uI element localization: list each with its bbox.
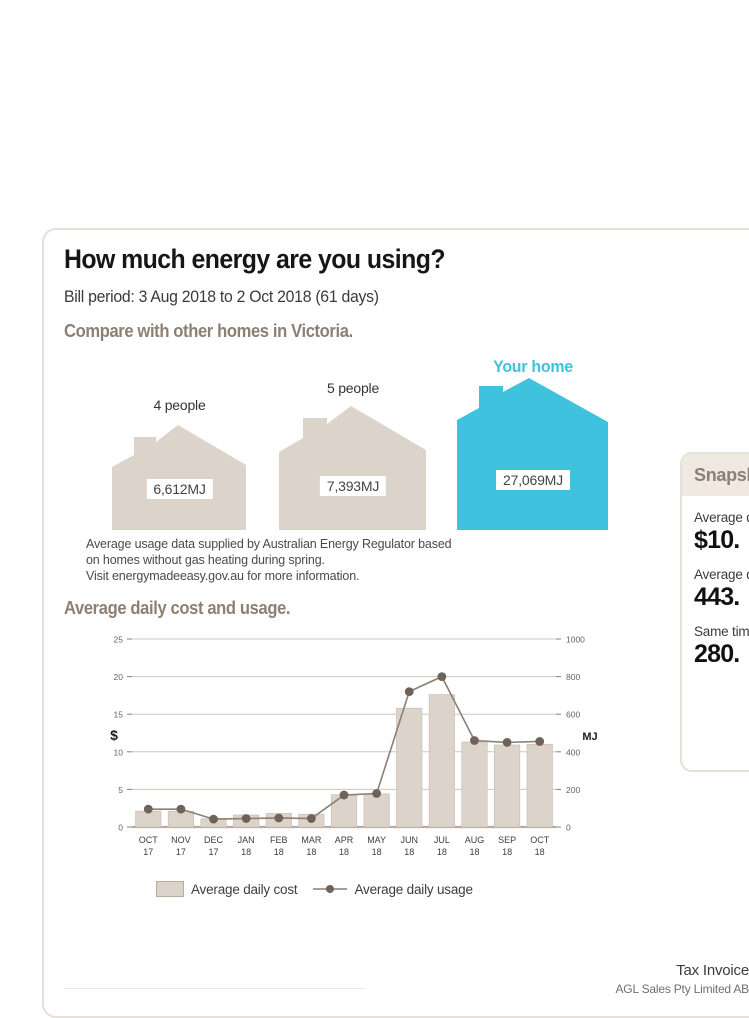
snapshot-body: Average daily cost $10. Average daily us… (682, 496, 749, 669)
svg-text:JUN: JUN (400, 835, 418, 845)
snapshot-label: Average daily usage (694, 567, 749, 582)
house-label: 5 people (279, 380, 427, 396)
invoice-footer: Tax Invoice AGL Sales Pty Limited AB (600, 962, 749, 996)
svg-text:JAN: JAN (238, 835, 255, 845)
house-icon (112, 415, 247, 530)
svg-text:17: 17 (143, 847, 153, 857)
svg-text:APR: APR (335, 835, 354, 845)
svg-text:18: 18 (469, 847, 479, 857)
snapshot-value: $10. (694, 526, 749, 555)
home-comparison: 4 people 6,612MJ 5 people 7,393M (64, 350, 634, 530)
snapshot-panel: Snapshot Average daily cost $10. Average… (680, 452, 749, 772)
page-title: How much energy are you using? (64, 244, 588, 275)
svg-text:18: 18 (404, 847, 414, 857)
legend-label: Average daily cost (191, 882, 297, 897)
svg-text:0: 0 (566, 823, 571, 833)
svg-text:18: 18 (306, 847, 316, 857)
svg-text:$: $ (110, 727, 118, 743)
svg-text:200: 200 (566, 785, 580, 795)
svg-text:10: 10 (114, 747, 124, 757)
svg-text:SEP: SEP (498, 835, 516, 845)
svg-text:MAR: MAR (301, 835, 322, 845)
bill-period: Bill period: 3 Aug 2018 to 2 Oct 2018 (6… (64, 287, 594, 307)
snapshot-title: Snapshot (694, 465, 749, 486)
snapshot-header: Snapshot (682, 454, 749, 496)
svg-text:OCT: OCT (139, 835, 159, 845)
svg-text:17: 17 (176, 847, 186, 857)
svg-text:18: 18 (339, 847, 349, 857)
disclaimer-line: Average usage data supplied by Australia… (86, 536, 634, 552)
footer-divider (64, 988, 364, 989)
card-content: How much energy are you using? Bill peri… (64, 244, 634, 897)
svg-text:OCT: OCT (530, 835, 550, 845)
svg-text:18: 18 (241, 847, 251, 857)
bill-page: How much energy are you using? Bill peri… (0, 0, 749, 999)
svg-text:FEB: FEB (270, 835, 288, 845)
snapshot-value: 443. (694, 583, 749, 612)
compare-heading: Compare with other homes in Victoria. (64, 321, 588, 342)
svg-text:25: 25 (114, 635, 124, 645)
house-icon (279, 398, 427, 530)
house-usage-value: 7,393MJ (320, 476, 386, 496)
energy-usage-card: How much energy are you using? Bill peri… (42, 228, 749, 1018)
svg-text:800: 800 (566, 672, 580, 682)
legend-swatch-icon (156, 881, 184, 897)
house-group-your-home: Your home 27,069MJ (457, 357, 609, 530)
your-home-label: Your home (462, 357, 605, 377)
snapshot-label: Same time last year (694, 624, 749, 639)
svg-text:18: 18 (274, 847, 284, 857)
svg-text:18: 18 (535, 847, 545, 857)
snapshot-row: Same time last year 280. (694, 624, 749, 669)
legend-item-usage: Average daily usage (313, 882, 472, 897)
svg-text:15: 15 (114, 710, 124, 720)
disclaimer-line: Visit energymadeeasy.gov.au for more inf… (86, 568, 634, 584)
svg-text:18: 18 (502, 847, 512, 857)
svg-text:0: 0 (118, 823, 123, 833)
svg-text:JUL: JUL (434, 835, 450, 845)
svg-text:MAY: MAY (367, 835, 386, 845)
svg-text:DEC: DEC (204, 835, 224, 845)
snapshot-row: Average daily usage 443. (694, 567, 749, 612)
house-label: 4 people (112, 397, 247, 413)
chart-heading: Average daily cost and usage. (64, 598, 588, 619)
house-usage-value: 27,069MJ (496, 470, 570, 490)
legend-line-dot-icon (313, 882, 347, 896)
svg-text:600: 600 (566, 710, 580, 720)
disclaimer-line: on homes without gas heating during spri… (86, 552, 634, 568)
svg-text:5: 5 (118, 785, 123, 795)
legend-item-cost: Average daily cost (156, 881, 297, 897)
snapshot-value: 280. (694, 640, 749, 669)
invoice-title: Tax Invoice (600, 962, 749, 979)
snapshot-row: Average daily cost $10. (694, 510, 749, 555)
house-icon-highlighted (457, 378, 609, 530)
house-usage-value: 6,612MJ (146, 479, 212, 499)
house-group-5-people: 5 people 7,393MJ (279, 380, 427, 530)
invoice-entity: AGL Sales Pty Limited AB (600, 982, 749, 996)
svg-text:1000: 1000 (566, 635, 585, 645)
cost-usage-chart: 251000208001560010400520000$MJOCT17NOV17… (64, 631, 634, 871)
svg-text:17: 17 (209, 847, 219, 857)
snapshot-label: Average daily cost (694, 510, 749, 525)
svg-text:400: 400 (566, 747, 580, 757)
chart-legend: Average daily cost Average daily usage (156, 881, 634, 897)
svg-text:20: 20 (114, 672, 124, 682)
house-group-4-people: 4 people 6,612MJ (112, 397, 247, 530)
svg-text:AUG: AUG (465, 835, 485, 845)
svg-text:NOV: NOV (171, 835, 191, 845)
legend-label: Average daily usage (354, 882, 472, 897)
svg-text:18: 18 (437, 847, 447, 857)
svg-text:18: 18 (372, 847, 382, 857)
chart-canvas: 251000208001560010400520000$MJOCT17NOV17… (64, 631, 634, 871)
usage-disclaimer: Average usage data supplied by Australia… (86, 536, 634, 584)
svg-text:MJ: MJ (582, 731, 597, 743)
